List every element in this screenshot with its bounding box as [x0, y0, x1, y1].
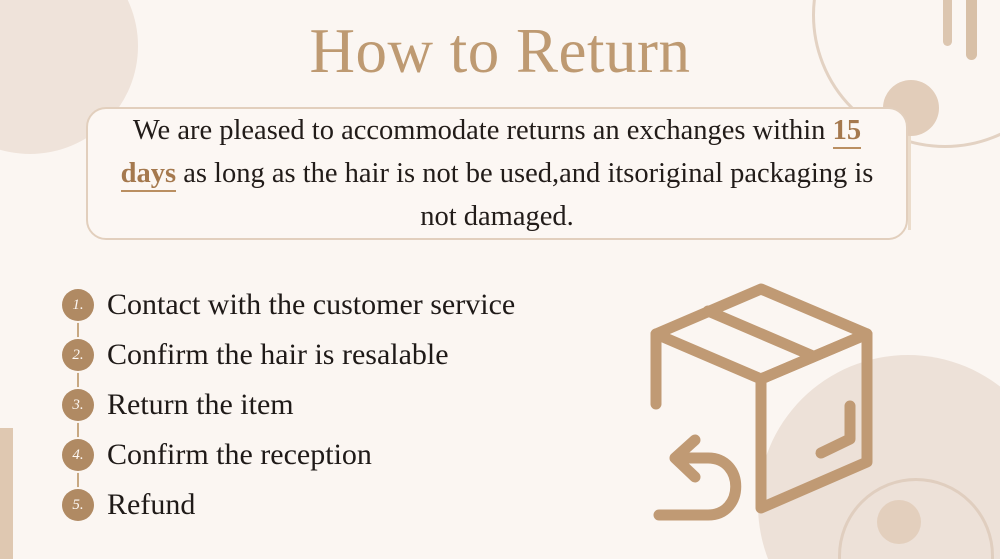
list-item: 4. Confirm the reception — [62, 430, 662, 480]
return-arrow-shaft — [659, 458, 736, 515]
return-policy-box: We are pleased to accommodate returns an… — [86, 107, 908, 240]
list-item: 1. Contact with the customer service — [62, 280, 662, 330]
step-label: Confirm the reception — [107, 438, 372, 472]
step-number-badge: 1. — [62, 289, 94, 321]
policy-line-1: We are pleased to accommodate returns an… — [133, 115, 746, 146]
box-flap-crease — [708, 311, 813, 356]
step-label: Confirm the hair is resalable — [107, 338, 449, 372]
step-label: Contact with the customer service — [107, 288, 515, 322]
step-number-badge: 3. — [62, 389, 94, 421]
step-label: Return the item — [107, 388, 294, 422]
list-item: 5. Refund — [62, 480, 662, 530]
step-number-badge: 4. — [62, 439, 94, 471]
return-policy-text: We are pleased to accommodate returns an… — [88, 109, 906, 238]
decor-bar-bottom-left — [0, 428, 13, 559]
slide-canvas: How to Return We are pleased to accommod… — [0, 0, 1000, 559]
return-box-icon — [645, 272, 900, 527]
policy-line-2-suffix: as long as the hair is not be used,and — [176, 158, 600, 189]
box-clock-hands — [821, 406, 850, 453]
list-item: 2. Confirm the hair is resalable — [62, 330, 662, 380]
page-title: How to Return — [0, 10, 1000, 92]
policy-line-2-prefix: within — [753, 115, 833, 146]
step-number-badge: 2. — [62, 339, 94, 371]
list-item: 3. Return the item — [62, 380, 662, 430]
steps-list: 1. Contact with the customer service 2. … — [62, 280, 662, 530]
step-number-badge: 5. — [62, 489, 94, 521]
return-box-icon-svg — [645, 272, 900, 527]
step-label: Refund — [107, 488, 195, 522]
decor-line-vertical-top-right — [908, 122, 911, 230]
